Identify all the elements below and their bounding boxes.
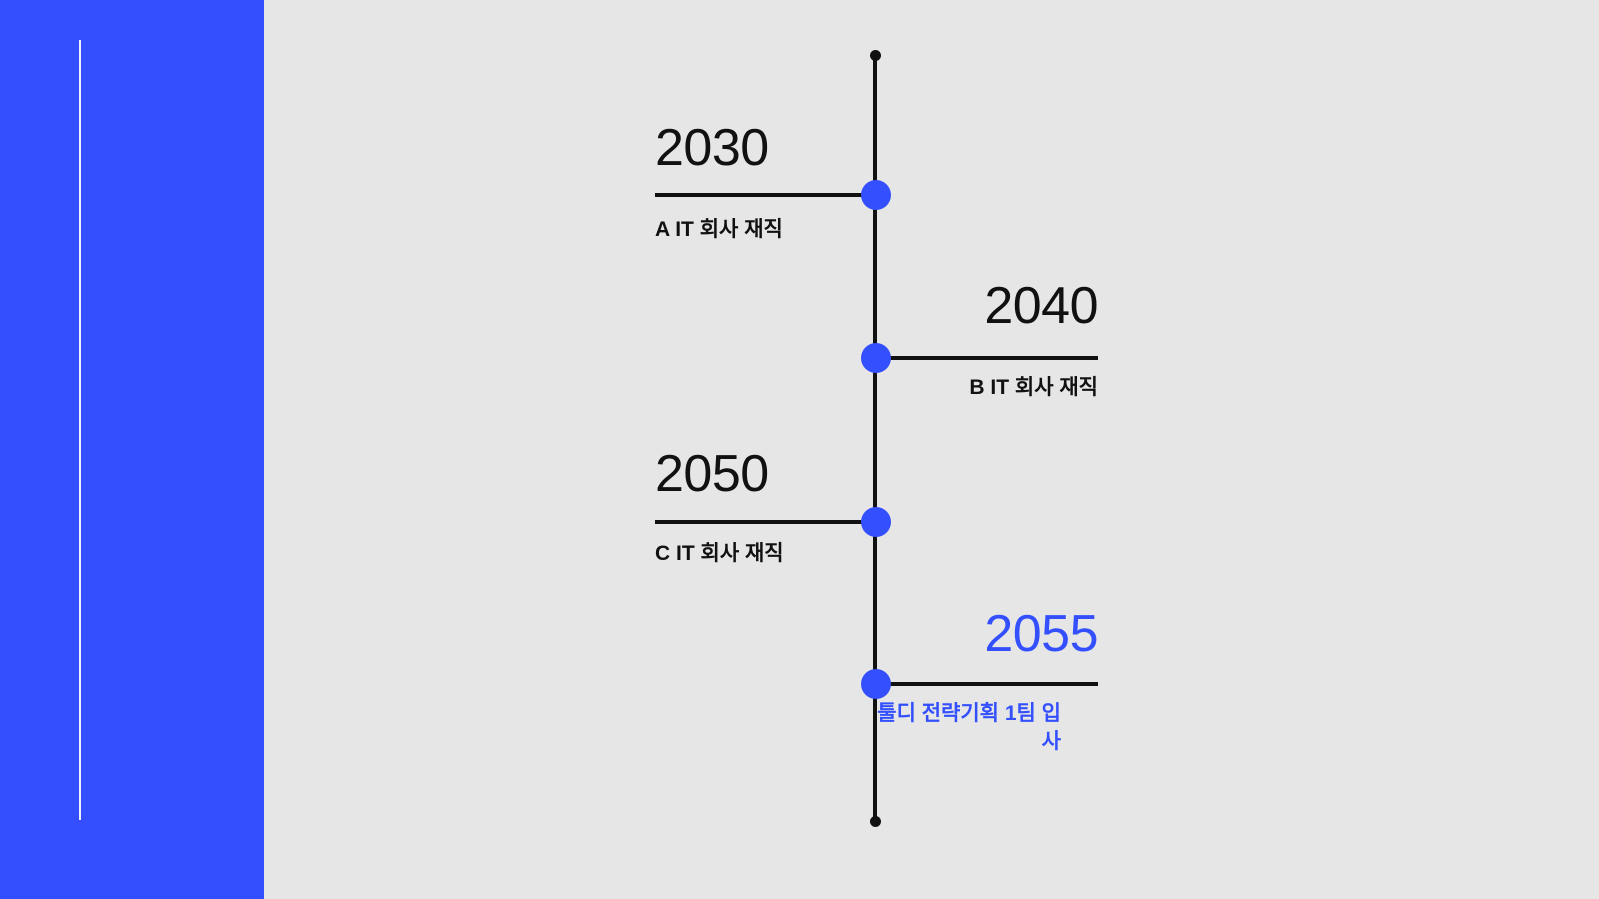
- timeline-caption-2040: B IT 회사 재직: [875, 374, 1098, 402]
- timeline-caption-2055: 툴디 전략기획 1팀 입사: [875, 700, 1061, 757]
- timeline-caption-2030: A IT 회사 재직: [655, 216, 875, 244]
- timeline-year-2055: 2055: [984, 605, 1098, 663]
- timeline: 2030 A IT 회사 재직 2040 B IT 회사 재직: [264, 0, 1599, 899]
- timeline-connector-2050: [655, 520, 875, 524]
- timeline-connector-2040: [875, 356, 1098, 360]
- timeline-node-2055[interactable]: [861, 669, 891, 699]
- timeline-connector-2030: [655, 193, 875, 197]
- timeline-year-2040-wrap: 2040: [875, 280, 1098, 332]
- sidebar-divider-line: [79, 40, 81, 820]
- timeline-year-2050: 2050: [655, 445, 769, 503]
- timeline-entry-2050: 2050: [655, 448, 875, 510]
- career-timeline-slide: 02. CAREER 2030 A IT 회사 재직: [0, 0, 1599, 899]
- timeline-node-2040[interactable]: [861, 343, 891, 373]
- sidebar: 02. CAREER: [0, 0, 264, 899]
- timeline-node-2030[interactable]: [861, 180, 891, 210]
- timeline-entry-2040: 2040: [875, 280, 1098, 342]
- timeline-year-2055-wrap: 2055: [875, 608, 1098, 660]
- timeline-end-dot: [870, 816, 881, 827]
- timeline-year-2050-wrap: 2050: [655, 448, 875, 500]
- timeline-caption-2050-wrap: C IT 회사 재직: [655, 540, 875, 568]
- timeline-entry-2030: 2030: [655, 122, 875, 184]
- timeline-connector-2055: [875, 682, 1098, 686]
- timeline-node-2050[interactable]: [861, 507, 891, 537]
- timeline-caption-2055-wrap: 툴디 전략기획 1팀 입사: [875, 700, 1061, 757]
- timeline-caption-2050: C IT 회사 재직: [655, 540, 875, 568]
- content-panel: 2030 A IT 회사 재직 2040 B IT 회사 재직: [264, 0, 1599, 899]
- timeline-year-2030: 2030: [655, 119, 769, 177]
- timeline-year-2040: 2040: [984, 277, 1098, 335]
- timeline-year-2030-wrap: 2030: [655, 122, 875, 174]
- timeline-entry-2055: 2055: [875, 608, 1098, 670]
- timeline-caption-2040-wrap: B IT 회사 재직: [875, 374, 1098, 402]
- timeline-caption-2030-wrap: A IT 회사 재직: [655, 216, 875, 244]
- timeline-start-dot: [870, 50, 881, 61]
